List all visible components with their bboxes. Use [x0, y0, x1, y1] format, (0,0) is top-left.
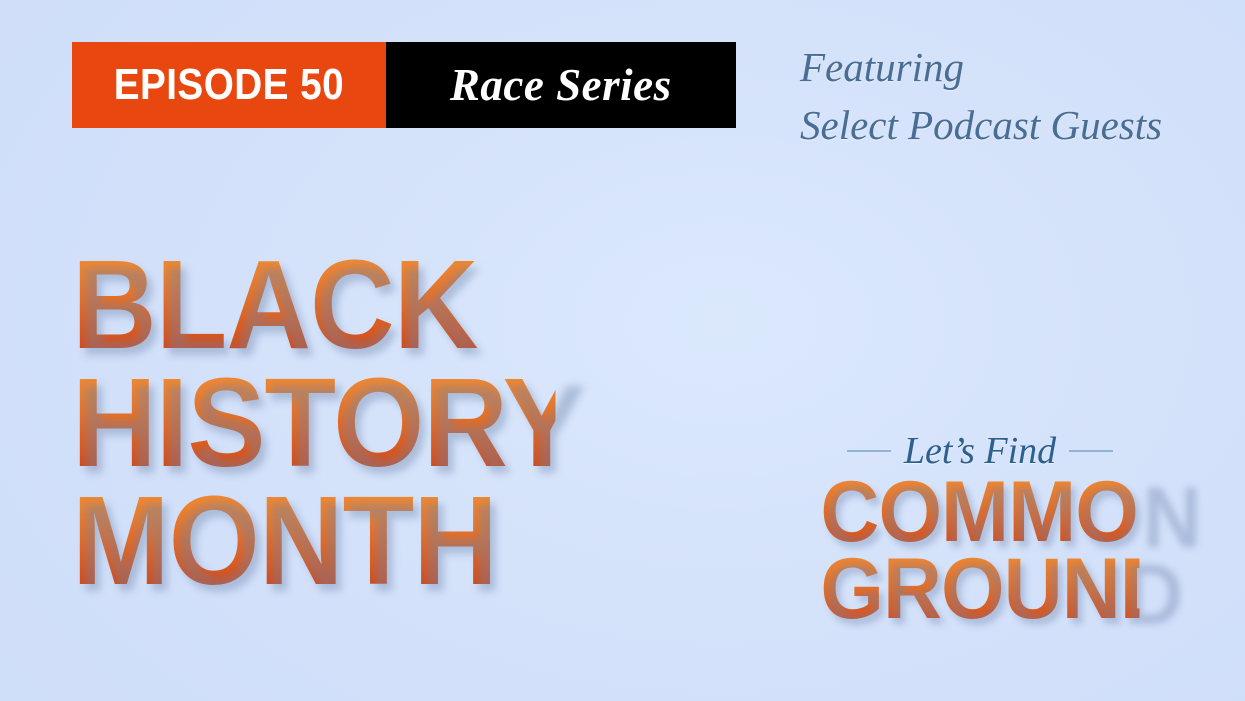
featuring-line-2: Select Podcast Guests: [800, 96, 1162, 154]
episode-number-chip: EPISODE 50: [72, 42, 386, 128]
main-headline: BLACK HISTORY MONTH: [72, 246, 592, 599]
featuring-line-1: Featuring: [800, 38, 1162, 96]
headline-line-3: MONTH: [72, 482, 556, 600]
tagline-rule-left: [847, 450, 891, 452]
logo-word-common: COMMON: [820, 474, 1139, 551]
series-name-label: Race Series: [450, 63, 672, 108]
podcast-title-card: EPISODE 50 Race Series Featuring Select …: [0, 0, 1245, 701]
logo-word-ground: GROUND: [820, 551, 1139, 628]
headline-line-2: HISTORY: [72, 364, 556, 482]
series-name-chip: Race Series: [386, 42, 736, 128]
featuring-block: Featuring Select Podcast Guests: [800, 38, 1162, 154]
tagline-rule-right: [1069, 450, 1113, 452]
common-ground-logo: Let’s Find COMMON GROUND: [812, 432, 1148, 629]
episode-banner: EPISODE 50 Race Series: [72, 42, 736, 128]
headline-line-1: BLACK: [72, 246, 556, 364]
episode-number-label: EPISODE 50: [114, 63, 344, 107]
